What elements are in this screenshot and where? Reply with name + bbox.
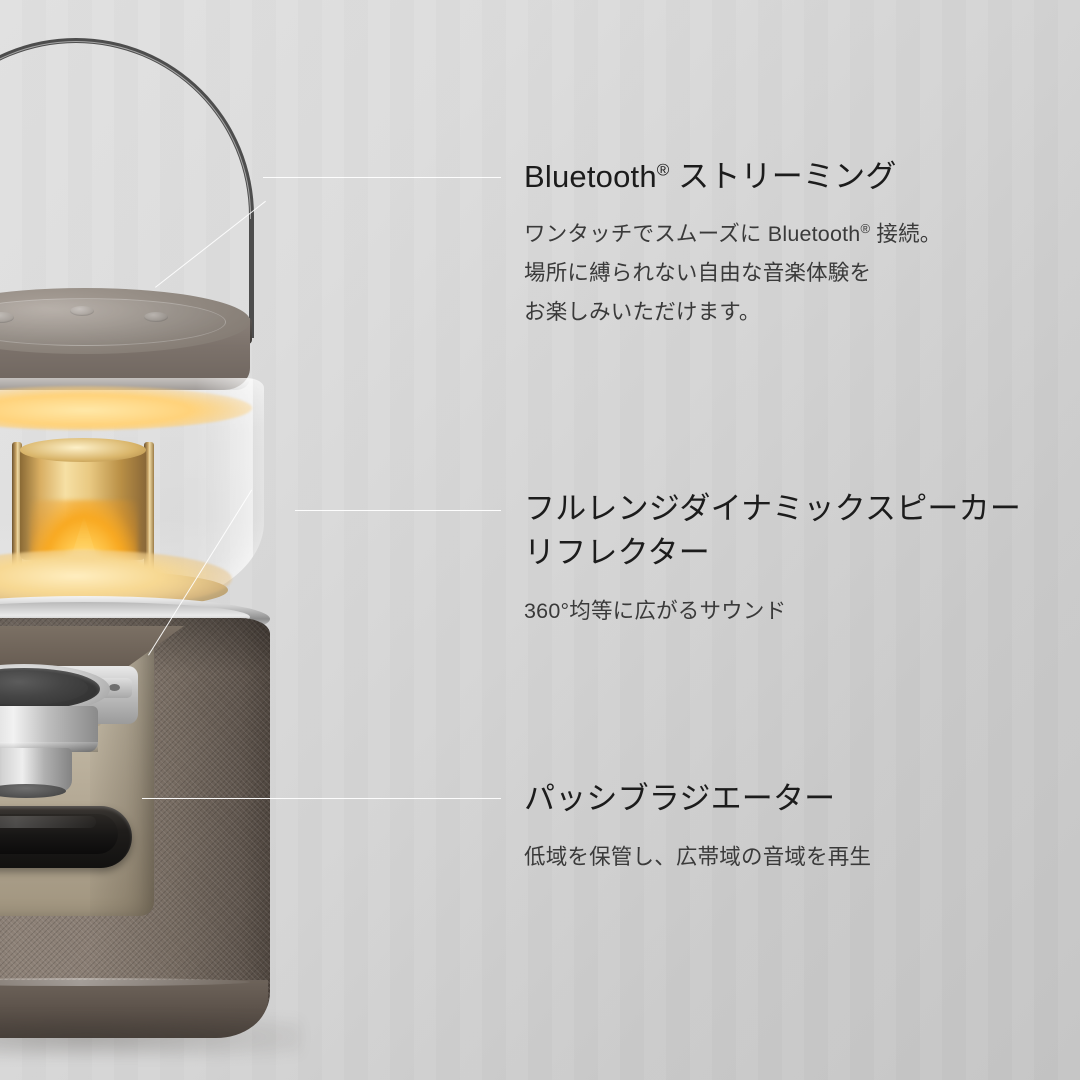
callout-driver-title-line2: リフレクター — [524, 531, 1021, 575]
driver-magnet-assembly — [0, 748, 72, 792]
registered-mark-icon: ® — [657, 161, 670, 180]
callout-passive-radiator: パッシブラジエーター 低域を保管し、広帯域の音域を再生 — [524, 777, 871, 876]
callout-driver-title-line1: フルレンジダイナミックスピーカー — [524, 487, 1021, 531]
brass-cylinder-top — [20, 438, 146, 462]
leader-line-radiator — [142, 798, 501, 799]
callout-full-range-driver: フルレンジダイナミックスピーカー リフレクター 360°均等に広がるサウンド — [524, 487, 1021, 630]
callout-bluetooth-body-line2: 場所に縛られない自由な音楽体験を — [524, 254, 942, 293]
callout-radiator-title: パッシブラジエーター — [524, 777, 871, 821]
infographic-canvas: Bluetooth® ストリーミング ワンタッチでスムーズに Bluetooth… — [0, 0, 1080, 1080]
registered-mark-icon: ® — [860, 221, 870, 236]
callout-driver-subtext: 360°均等に広がるサウンド — [524, 593, 1021, 630]
contact-shadow — [0, 1016, 302, 1058]
callout-bluetooth-title-tail: ストリーミング — [669, 159, 896, 194]
driver-basket — [0, 706, 98, 752]
callout-bluetooth-body: ワンタッチでスムーズに Bluetooth® 接続。 場所に縛られない自由な音楽… — [524, 215, 942, 332]
body-line1-a: ワンタッチでスムーズに Bluetooth — [524, 222, 860, 246]
passive-radiator-gloss — [0, 816, 96, 828]
callout-bluetooth-title: Bluetooth® ストリーミング — [524, 155, 942, 199]
callout-bluetooth: Bluetooth® ストリーミング ワンタッチでスムーズに Bluetooth… — [524, 155, 942, 332]
callout-bluetooth-body-line1: ワンタッチでスムーズに Bluetooth® 接続。 — [524, 215, 942, 254]
callout-bluetooth-body-line3: お楽しみいただけます。 — [524, 293, 942, 332]
callout-bluetooth-title-main: Bluetooth — [524, 159, 657, 194]
cap-button-light-icon — [70, 306, 94, 316]
body-line1-b: 接続。 — [870, 222, 941, 246]
leader-line-bluetooth — [263, 177, 501, 178]
callout-radiator-subtext: 低域を保管し、広帯域の音域を再生 — [524, 839, 871, 876]
leader-line-driver — [295, 510, 501, 511]
cap-button-volume-icon — [144, 312, 168, 322]
product-illustration — [0, 30, 362, 1065]
